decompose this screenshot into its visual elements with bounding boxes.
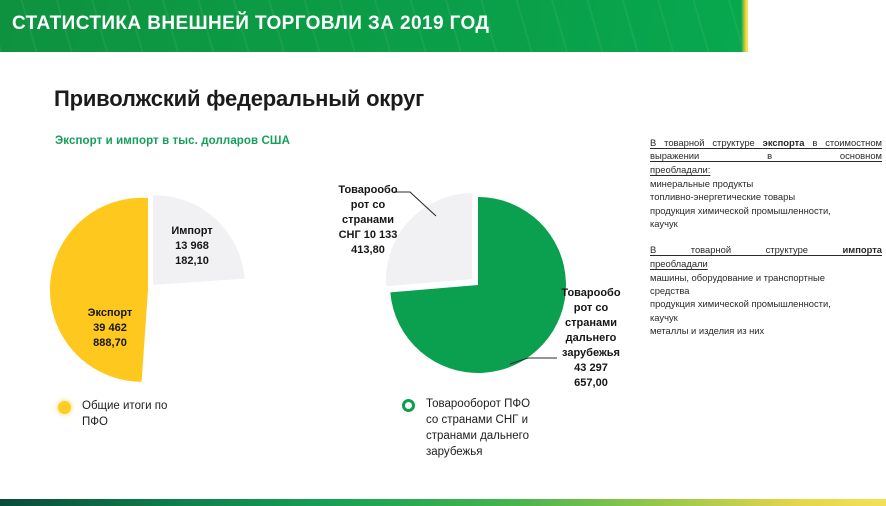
note-head-import-line1: В товарной структуре импорта xyxy=(650,243,882,256)
legend-swatch-yellow-icon xyxy=(58,401,71,414)
note-item-export-1: топливно-энергетические товары xyxy=(650,190,882,203)
pie2-label-far-abroad: Товарообо рот со странами дальнего заруб… xyxy=(550,286,632,391)
note-block-export: В товарной структуре экспорта в стоимост… xyxy=(650,136,882,230)
legend-total-pfo: Общие итоги по ПФО xyxy=(58,398,167,430)
legend-swatch-green-icon xyxy=(402,399,415,412)
note-item-export-0: минеральные продукты xyxy=(650,177,882,190)
note-head-export-line1: В товарной структуре экспорта в стоимост… xyxy=(650,136,882,163)
note-item-import-0: машины, оборудование и транспортные xyxy=(650,271,882,284)
note-item-import-3: каучук xyxy=(650,311,882,324)
header-accent-stripe xyxy=(741,0,748,52)
notes-column: В товарной структуре экспорта в стоимост… xyxy=(650,136,882,351)
note-head-export-line2: преобладали: xyxy=(650,163,882,176)
note-head-import-line2: преобладали xyxy=(650,257,882,270)
pie1-label-export: Экспорт 39 462 888,70 xyxy=(62,306,158,351)
legend-label-turnover-pfo: Товарооборот ПФО со странами СНГ и стран… xyxy=(426,396,530,460)
note-head-export: В товарной структуре экспорта в стоимост… xyxy=(650,136,882,176)
note-item-export-2: продукция химической промышленности, xyxy=(650,204,882,217)
note-head-import: В товарной структуре импорта преобладали xyxy=(650,243,882,270)
note-item-export-3: каучук xyxy=(650,217,882,230)
region-title: Приволжский федеральный округ xyxy=(54,86,424,112)
legend-turnover-pfo: Товарооборот ПФО со странами СНГ и стран… xyxy=(402,396,530,460)
pie1-label-import: Импорт 13 968 182,10 xyxy=(150,224,234,269)
slide: СТАТИСТИКА ВНЕШНЕЙ ТОРГОВЛИ ЗА 2019 ГОД … xyxy=(0,0,886,506)
footer-gradient-bar xyxy=(0,499,886,506)
note-item-import-1: средства xyxy=(650,284,882,297)
page-title: СТАТИСТИКА ВНЕШНЕЙ ТОРГОВЛИ ЗА 2019 ГОД xyxy=(12,13,489,35)
note-block-import: В товарной структуре импорта преобладали… xyxy=(650,243,882,337)
note-item-import-4: металлы и изделия из них xyxy=(650,324,882,337)
pie2-label-cis: Товарообо рот со странами СНГ 10 133 413… xyxy=(322,183,414,258)
pie1-slice-export xyxy=(50,198,148,382)
section-subtitle: Экспорт и импорт в тыс. долларов США xyxy=(55,135,290,147)
legend-label-total-pfo: Общие итоги по ПФО xyxy=(82,398,167,430)
note-item-import-2: продукция химической промышленности, xyxy=(650,297,882,310)
